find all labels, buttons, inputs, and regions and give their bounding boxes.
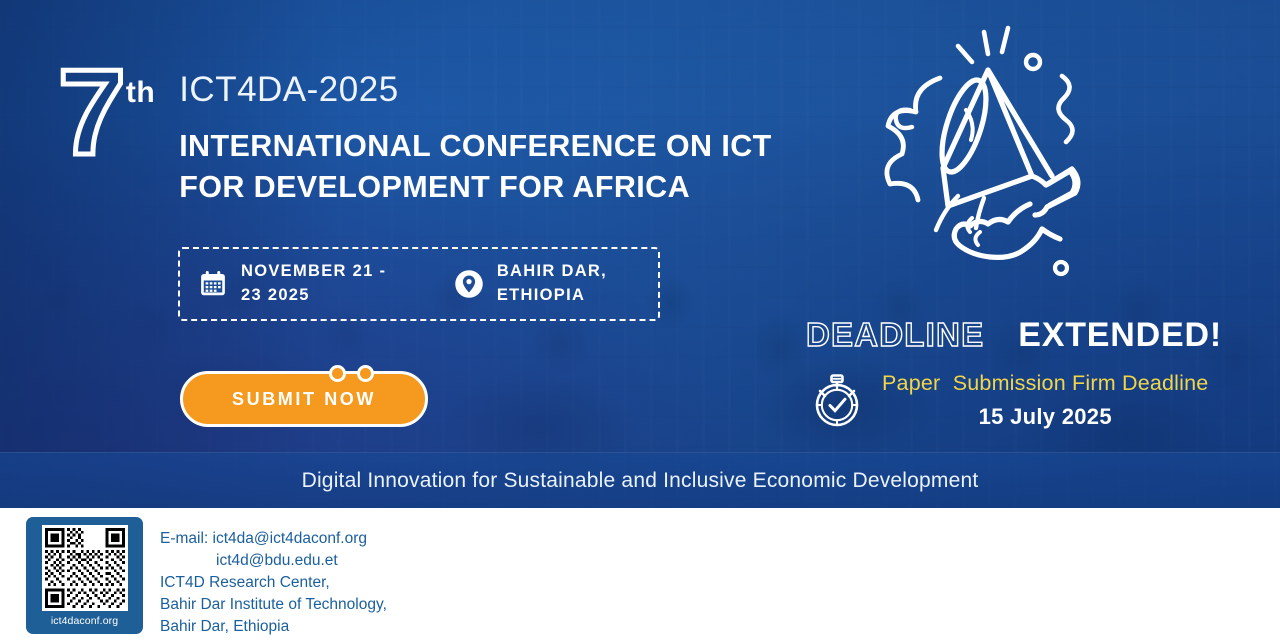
tagline-strip: Digital Innovation for Sustainable and I… xyxy=(0,452,1280,508)
qr-panel[interactable]: ict4daconf.org xyxy=(26,517,143,634)
submit-now-button[interactable]: SUBMIT NOW xyxy=(180,371,428,427)
title-group: ICT4DA-2025 INTERNATIONAL CONFERENCE ON … xyxy=(179,72,771,207)
conference-banner: 7 th ICT4DA-2025 INTERNATIONAL CONFERENC… xyxy=(0,0,1280,640)
submit-now-label: SUBMIT NOW xyxy=(232,389,376,410)
qr-label: ict4daconf.org xyxy=(51,615,118,627)
contact-center: ICT4D Research Center, xyxy=(160,572,387,594)
location-item: BAHIR DAR, ETHIOPIA xyxy=(454,260,640,308)
deadline-headline-row: DEADLINE EXTENDED! xyxy=(806,316,1266,355)
submit-button-wrap: SUBMIT NOW xyxy=(180,371,428,427)
location-pin-icon xyxy=(454,269,484,299)
megaphone-icon xyxy=(880,18,1120,318)
deadline-texts: Paper Submission Firm Deadline 15 July 2… xyxy=(882,371,1208,430)
tagline-text: Digital Innovation for Sustainable and I… xyxy=(302,469,979,493)
edition-row: 7 th ICT4DA-2025 INTERNATIONAL CONFERENC… xyxy=(58,62,772,207)
contact-email-primary[interactable]: E-mail: ict4da@ict4daconf.org xyxy=(160,528,387,550)
calendar-icon xyxy=(198,269,228,299)
extended-word: EXTENDED! xyxy=(1018,316,1222,355)
deadline-detail-row: Paper Submission Firm Deadline 15 July 2… xyxy=(806,369,1266,431)
button-notch-left xyxy=(329,365,346,382)
deadline-block: DEADLINE EXTENDED! xyxy=(806,316,1266,431)
edition-ordinal: th xyxy=(126,76,155,110)
hero-section: 7 th ICT4DA-2025 INTERNATIONAL CONFERENC… xyxy=(0,0,1280,508)
button-notch-right xyxy=(357,365,374,382)
headline-block: 7 th ICT4DA-2025 INTERNATIONAL CONFERENC… xyxy=(58,62,772,207)
contact-email-secondary[interactable]: ict4d@bdu.edu.et xyxy=(160,550,387,572)
footer-section: ict4daconf.org E-mail: ict4da@ict4daconf… xyxy=(0,508,1280,640)
qr-code-icon xyxy=(42,525,128,611)
deadline-word: DEADLINE xyxy=(806,316,984,354)
conference-title-line2: FOR DEVELOPMENT FOR AFRICA xyxy=(179,167,771,208)
conference-title-line1: INTERNATIONAL CONFERENCE ON ICT xyxy=(179,126,771,167)
conference-code: ICT4DA-2025 xyxy=(179,72,771,107)
deadline-date: 15 July 2025 xyxy=(882,404,1208,430)
deadline-description: Paper Submission Firm Deadline xyxy=(882,371,1208,396)
stopwatch-icon xyxy=(806,369,868,431)
contact-institute: Bahir Dar Institute of Technology, xyxy=(160,594,387,616)
date-location-box: NOVEMBER 21 - 23 2025 BAHIR DAR, ETHIOPI… xyxy=(178,247,660,321)
location-text: BAHIR DAR, ETHIOPIA xyxy=(497,260,640,308)
conference-title: INTERNATIONAL CONFERENCE ON ICT FOR DEVE… xyxy=(179,126,771,207)
date-text: NOVEMBER 21 - 23 2025 xyxy=(241,260,396,308)
edition-number: 7 xyxy=(58,62,124,162)
contact-block: E-mail: ict4da@ict4daconf.org ict4d@bdu.… xyxy=(160,528,387,638)
contact-city: Bahir Dar, Ethiopia xyxy=(160,616,387,638)
date-item: NOVEMBER 21 - 23 2025 xyxy=(198,260,396,308)
